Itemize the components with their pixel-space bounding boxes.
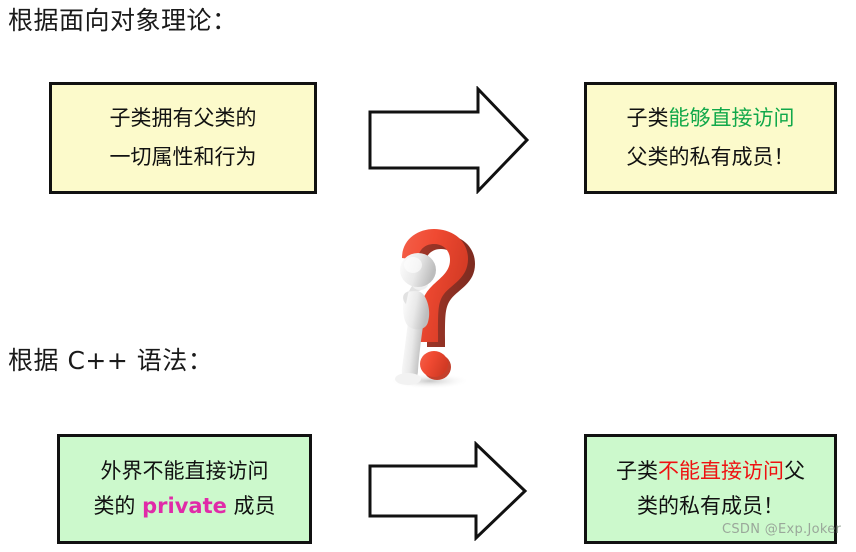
right-arrow-icon-bottom [368,441,528,541]
question-figure-shape [368,226,486,388]
box-cannot-access-line-1-emphasis: 不能直接访问 [658,459,784,483]
box-inheritance-line-2: 一切属性和行为 [110,147,257,168]
box-private-line-2-keyword: private [142,494,227,518]
box-cannot-access-line-1-plain: 子类 [616,459,658,483]
box-private-line-2: 类的 private 成员 [93,496,275,517]
box-cannot-access-line-2: 类的私有成员！ [637,496,784,517]
right-arrow-shape [368,86,530,194]
right-arrow-icon-top [368,86,530,194]
box-cannot-access-line-1-tail: 父 [784,459,805,483]
box-inheritance-statement: 子类拥有父类的 一切属性和行为 [49,82,317,194]
box-can-access-line-2: 父类的私有成员！ [627,147,795,168]
heading-cpp-syntax: 根据 C++ 语法： [8,348,213,373]
box-can-access-line-1-plain: 子类 [627,106,669,130]
box-cannot-access-line-1: 子类不能直接访问父 [616,461,805,482]
box-can-access-line-1-emphasis: 能够直接访问 [669,106,795,130]
box-private-member-statement: 外界不能直接访问 类的 private 成员 [57,434,312,544]
box-private-line-2-suffix: 成员 [227,494,276,518]
box-private-line-1: 外界不能直接访问 [101,461,269,482]
box-can-access-line-1: 子类能够直接访问 [627,108,795,129]
csdn-watermark: CSDN @Exp.Joker [722,522,841,537]
box-private-line-2-prefix: 类的 [93,494,142,518]
box-inheritance-line-1: 子类拥有父类的 [110,108,257,129]
question-mark-thinking-person-icon [368,226,486,388]
right-arrow-shape [368,441,528,541]
heading-oop-theory: 根据面向对象理论： [8,8,238,33]
slide-canvas: 根据面向对象理论： 根据 C++ 语法： 子类拥有父类的 一切属性和行为 子类能… [0,0,856,552]
box-can-access-statement: 子类能够直接访问 父类的私有成员！ [584,82,837,194]
